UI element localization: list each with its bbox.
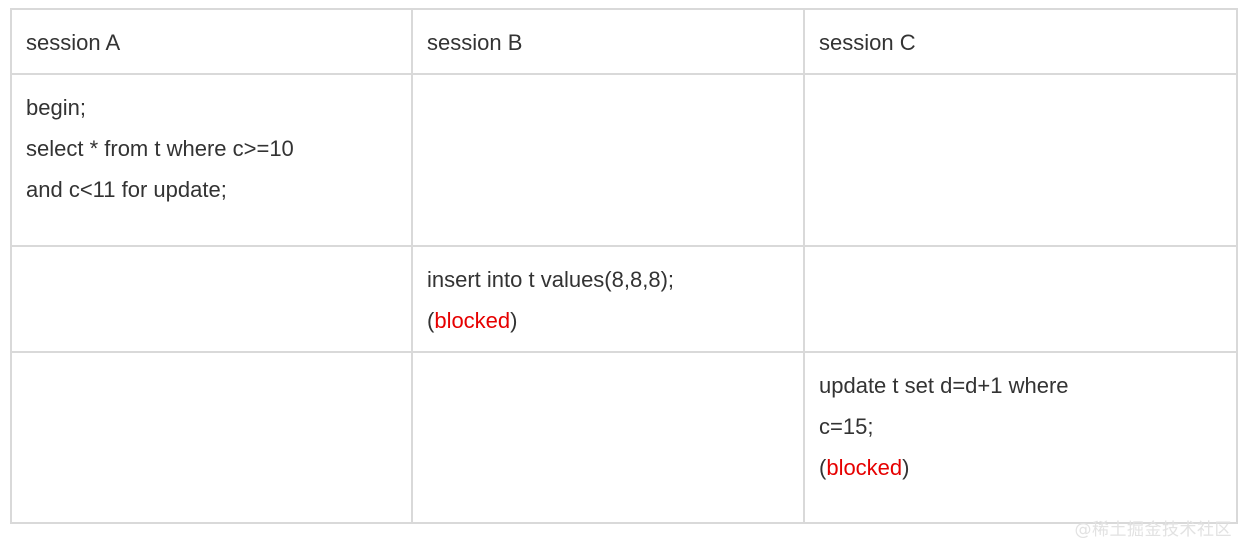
sql-statement-block: begin; select * from t where c>=10 and c…: [26, 87, 397, 210]
column-header-label: session B: [427, 30, 522, 55]
session-comparison-table: session A session B session C begin; sel…: [10, 8, 1238, 524]
sql-statement-block: insert into t values(8,8,8); (blocked): [427, 259, 789, 341]
status-badge-blocked: blocked: [434, 308, 510, 333]
sql-line: update t set d=d+1 where: [819, 365, 1222, 406]
column-header-label: session C: [819, 30, 916, 55]
sql-statement-block: update t set d=d+1 where c=15; (blocked): [819, 365, 1222, 488]
cell-session-a-row-2: [11, 246, 412, 352]
sql-line: select * from t where c>=10: [26, 128, 397, 169]
table-body: begin; select * from t where c>=10 and c…: [11, 74, 1237, 523]
column-header-label: session A: [26, 30, 120, 55]
status-badge-blocked: blocked: [826, 455, 902, 480]
page-root: session A session B session C begin; sel…: [0, 0, 1246, 550]
column-header-session-a: session A: [11, 9, 412, 74]
cell-session-b-row-2: insert into t values(8,8,8); (blocked): [412, 246, 804, 352]
table-header: session A session B session C: [11, 9, 1237, 74]
sql-line: begin;: [26, 87, 397, 128]
cell-session-a-row-1: begin; select * from t where c>=10 and c…: [11, 74, 412, 246]
cell-session-b-row-1: [412, 74, 804, 246]
cell-session-b-row-3: [412, 352, 804, 523]
blocked-status-line: (blocked): [819, 447, 1222, 488]
table-row: insert into t values(8,8,8); (blocked): [11, 246, 1237, 352]
sql-line: insert into t values(8,8,8);: [427, 259, 789, 300]
cell-session-c-row-3: update t set d=d+1 where c=15; (blocked): [804, 352, 1237, 523]
cell-session-c-row-2: [804, 246, 1237, 352]
cell-session-c-row-1: [804, 74, 1237, 246]
sql-line: c=15;: [819, 406, 1222, 447]
close-paren: ): [510, 308, 517, 333]
table-row: begin; select * from t where c>=10 and c…: [11, 74, 1237, 246]
sql-line: and c<11 for update;: [26, 169, 397, 210]
table-header-row: session A session B session C: [11, 9, 1237, 74]
blocked-status-line: (blocked): [427, 300, 789, 341]
column-header-session-c: session C: [804, 9, 1237, 74]
cell-session-a-row-3: [11, 352, 412, 523]
close-paren: ): [902, 455, 909, 480]
table-row: update t set d=d+1 where c=15; (blocked): [11, 352, 1237, 523]
column-header-session-b: session B: [412, 9, 804, 74]
